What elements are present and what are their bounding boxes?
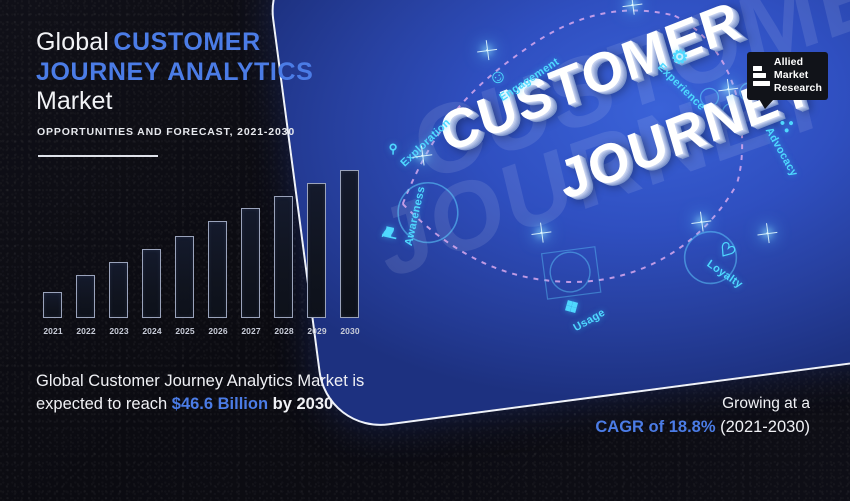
bar-label-2025: 2025 [168, 326, 202, 336]
bar-2030 [340, 170, 359, 318]
logo-line-3: Research [774, 83, 822, 95]
cagr-value: CAGR of 18.8% [595, 418, 715, 436]
bar-label-2027: 2027 [234, 326, 268, 336]
bar-label-2021: 2021 [36, 326, 70, 336]
bar-label-2029: 2029 [300, 326, 334, 336]
bar-label-2023: 2023 [102, 326, 136, 336]
bar-2026 [208, 221, 227, 318]
cagr-period: (2021-2030) [720, 418, 810, 436]
bar-label-2024: 2024 [135, 326, 169, 336]
bar-label-2030: 2030 [333, 326, 367, 336]
allied-market-research-logo: Allied Market Research [747, 52, 828, 100]
logo-text: Allied Market Research [774, 57, 822, 95]
bar-label-2026: 2026 [201, 326, 235, 336]
statement-part-2: by 2030 [268, 395, 333, 413]
bar-2028 [274, 196, 293, 318]
logo-bars-icon [753, 57, 770, 95]
cagr-intro: Growing at a [595, 392, 810, 415]
bar-2024 [142, 249, 161, 318]
market-statement: Global Customer Journey Analytics Market… [36, 370, 381, 417]
cagr-block: Growing at a CAGR of 18.8% (2021-2030) [595, 392, 810, 440]
bar-2027 [241, 208, 260, 318]
logo-line-1: Allied [774, 57, 822, 69]
bar-2023 [109, 262, 128, 318]
bar-label-2028: 2028 [267, 326, 301, 336]
statement-highlight: $46.6 Billion [172, 395, 268, 413]
logo-line-2: Market [774, 70, 822, 82]
logo-bubble: Allied Market Research [747, 52, 828, 100]
bar-2029 [307, 183, 326, 318]
bar-label-2022: 2022 [69, 326, 103, 336]
bar-2021 [43, 292, 62, 318]
bar-2022 [76, 275, 95, 318]
bar-2025 [175, 236, 194, 318]
infographic-poster: CUSTOMER JOURNEY CUSTOMER JOURNEY ⌕ Expl… [0, 0, 850, 501]
market-forecast-bar-chart: 2021202220232024202520262027202820292030 [0, 0, 400, 345]
left-content-column: Global CUSTOMER JOURNEY ANALYTICS Market… [0, 0, 400, 501]
